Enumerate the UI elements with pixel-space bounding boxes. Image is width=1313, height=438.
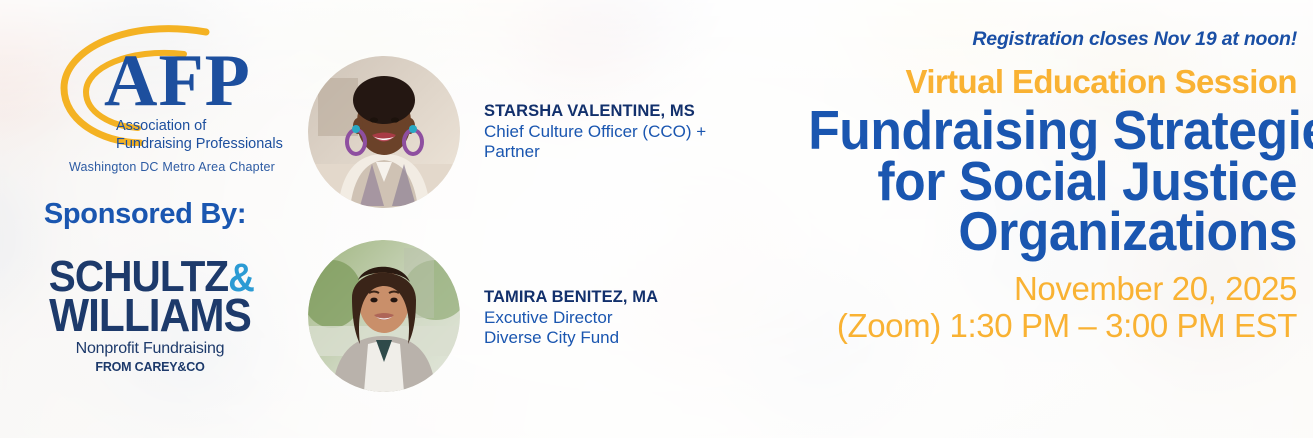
afp-wordmark: AFP — [104, 44, 251, 118]
afp-subtitle-line2: Fundraising Professionals — [116, 136, 291, 154]
event-promo-banner: AFP Association of Fundraising Professio… — [0, 0, 1313, 438]
sw-wordmark-line2: WILLIAMS — [49, 296, 251, 336]
sponsored-by-heading: Sponsored By: — [30, 198, 260, 231]
afp-subtitle: Association of Fundraising Professionals — [116, 118, 291, 153]
event-date: November 20, 2025 — [777, 271, 1297, 308]
speaker-info: TAMIRA BENITEZ, MA Excutive Director Div… — [484, 288, 784, 348]
afp-chapter-name: Washington DC Metro Area Chapter — [56, 160, 288, 174]
registration-deadline-note: Registration closes Nov 19 at noon! — [777, 28, 1297, 51]
sw-parent-company: FROM CAREY&CO — [40, 360, 260, 374]
event-details: Registration closes Nov 19 at noon! Virt… — [777, 0, 1297, 345]
event-title-line3: Organizations — [808, 206, 1297, 257]
speaker-photo-tamira-benitez — [308, 240, 460, 392]
speaker-photo-starsha-valentine — [308, 56, 460, 208]
afp-subtitle-line1: Association of — [116, 118, 291, 136]
sw-tagline: Nonprofit Fundraising — [40, 340, 260, 358]
speaker-role-line1: Excutive Director — [484, 308, 784, 328]
event-title: Fundraising Strategies for Social Justic… — [808, 105, 1297, 257]
speaker-card: TAMIRA BENITEZ, MA Excutive Director Div… — [308, 240, 788, 400]
event-datetime: November 20, 2025 (Zoom) 1:30 PM – 3:00 … — [777, 271, 1297, 345]
event-title-line2: for Social Justice — [808, 156, 1297, 207]
speaker-role-line2: Diverse City Fund — [484, 328, 784, 348]
speaker-role-line2: Partner — [484, 142, 784, 162]
speaker-name: STARSHA VALENTINE, MS — [484, 102, 784, 122]
afp-logo: AFP Association of Fundraising Professio… — [38, 18, 288, 168]
speaker-role-line1: Chief Culture Officer (CCO) + — [484, 122, 784, 142]
schultz-williams-logo: SCHULTZ& WILLIAMS Nonprofit Fundraising … — [40, 258, 260, 374]
event-title-line1: Fundraising Strategies — [808, 105, 1297, 156]
speaker-name: TAMIRA BENITEZ, MA — [484, 288, 784, 308]
session-type-kicker: Virtual Education Session — [777, 63, 1297, 101]
speaker-card: STARSHA VALENTINE, MS Chief Culture Offi… — [308, 56, 788, 216]
event-time: (Zoom) 1:30 PM – 3:00 PM EST — [777, 308, 1297, 345]
speaker-info: STARSHA VALENTINE, MS Chief Culture Offi… — [484, 102, 784, 162]
